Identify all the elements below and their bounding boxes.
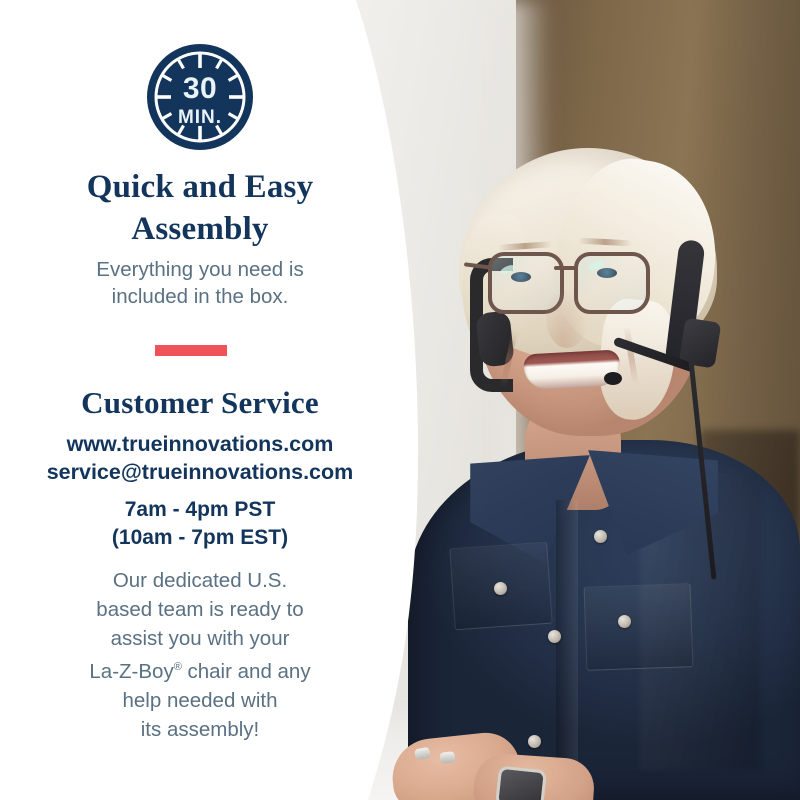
hours-line1: 7am - 4pm PST — [0, 496, 400, 524]
promo-graphic: 30 MIN. Quick and Easy Assembly Everythi… — [0, 0, 800, 800]
support-description-line4: La-Z-Boy® chair and any — [0, 653, 400, 686]
support-description: Our dedicated U.S. based team is ready t… — [0, 566, 400, 744]
support-description-line5: help needed with — [0, 686, 400, 715]
brand-name: La-Z-Boy — [89, 660, 173, 683]
support-description-line1: Our dedicated U.S. — [0, 566, 400, 595]
badge-container: 30 MIN. — [0, 42, 400, 152]
shirt-button — [528, 735, 541, 748]
email-link[interactable]: service@trueinnovations.com — [0, 458, 400, 486]
registered-trademark-icon: ® — [174, 661, 182, 673]
assembly-body-line2: included in the box. — [0, 283, 400, 310]
microphone-tip — [604, 372, 622, 385]
assembly-heading: Quick and Easy Assembly — [0, 166, 400, 250]
shirt-pocket-right — [584, 583, 694, 671]
ring — [439, 751, 455, 764]
support-description-line3: assist you with your — [0, 624, 400, 653]
assembly-heading-line1: Quick and Easy — [0, 166, 400, 208]
support-hours: 7am - 4pm PST (10am - 7pm EST) — [0, 496, 400, 552]
badge-value: 30 — [183, 72, 217, 105]
shirt-button — [548, 630, 561, 643]
smartwatch — [495, 766, 547, 800]
shirt-button — [618, 615, 631, 628]
assembly-heading-line2: Assembly — [0, 208, 400, 250]
customer-service-heading: Customer Service — [0, 384, 400, 422]
website-link[interactable]: www.trueinnovations.com — [0, 430, 400, 458]
badge-unit: MIN. — [178, 107, 222, 128]
section-divider — [155, 345, 227, 356]
eyeglass-bridge — [554, 266, 576, 270]
hours-line2: (10am - 7pm EST) — [0, 524, 400, 552]
assembly-body: Everything you need is included in the b… — [0, 256, 400, 310]
shirt-button — [594, 530, 607, 543]
assembly-body-line1: Everything you need is — [0, 256, 400, 283]
support-description-line2: based team is ready to — [0, 595, 400, 624]
clock-icon: 30 MIN. — [145, 42, 255, 152]
info-content: 30 MIN. Quick and Easy Assembly Everythi… — [0, 0, 400, 800]
contact-details: www.trueinnovations.com service@trueinno… — [0, 430, 400, 486]
shirt-button — [494, 582, 507, 595]
support-description-line4-rest: chair and any — [182, 660, 311, 683]
support-description-line6: its assembly! — [0, 715, 400, 744]
nose — [546, 288, 588, 348]
shirt-placket — [556, 500, 578, 800]
smiling-mouth — [523, 350, 621, 391]
